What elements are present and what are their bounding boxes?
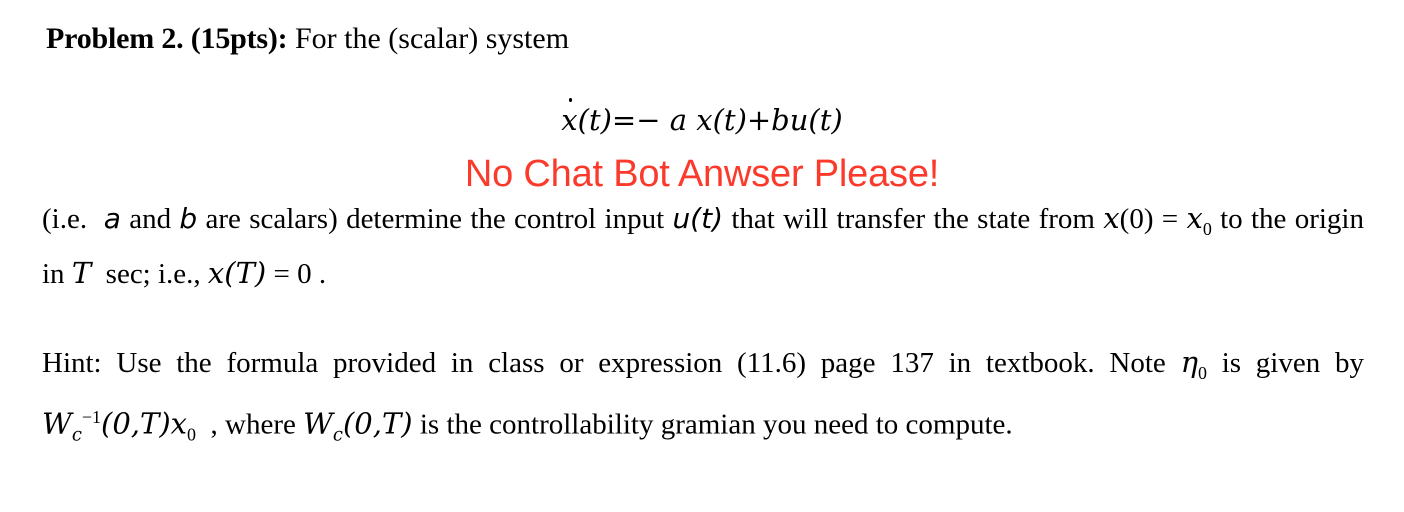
hint-text-segment: Hint: Use the formula provided in class … [42,347,1181,379]
variable-T: T [72,256,91,290]
text-segment: (0) = [1120,203,1187,235]
equation-body: (t)=− a x(t)+bu(t) [578,103,843,137]
text-segment: that will transfer the state from [723,203,1103,235]
problem-heading-rest: For the (scalar) system [287,22,569,55]
variable-x-subscript: 0 [1203,219,1212,239]
text-segment: sec; i.e., [91,258,208,290]
system-equation: x(t)=− a x(t)+bu(t) [0,103,1404,138]
variable-x-initial: x [171,406,187,440]
variable-W-inverse: W [42,406,72,440]
variable-x-initial: x [1186,201,1202,235]
variable-eta: η [1181,345,1198,379]
variable-x-of-T: x(T) [208,256,266,290]
variable-W-gramian: W [303,406,333,440]
variable-W-subscript-c: c [333,424,343,445]
problem-heading: Problem 2. (15pts): For the (scalar) sys… [46,21,569,57]
hint-text-segment: , where [196,408,303,440]
variable-W-subscript-c: c [72,424,82,445]
variable-W-superscript-minus-one: −1 [82,407,101,427]
paragraph-scalars: (i.e. a and b are scalars) determine the… [42,196,1364,296]
problem-label: Problem 2. (15pts): [46,22,287,55]
text-segment: are scalars) determine the control input [197,203,672,235]
hint-text-segment: is the controllability gramian you need … [413,408,1013,440]
document-page: Problem 2. (15pts): For the (scalar) sys… [0,0,1404,512]
x-dot-symbol: x [561,103,577,137]
hint-text-segment: is given by [1207,347,1364,379]
no-chatbot-annotation: No Chat Bot Anwser Please! [0,152,1404,196]
gramian-args: (0,T) [343,406,413,440]
paragraph-hint: Hint: Use the formula provided in class … [42,340,1364,457]
text-segment: = 0 . [266,258,326,290]
text-segment: (i.e. [42,203,104,235]
variable-a: a [104,202,121,235]
gramian-args: (0,T) [101,406,171,440]
variable-x: x [1103,201,1119,235]
variable-eta-subscript: 0 [1198,363,1207,383]
variable-b: b [179,202,197,235]
variable-x-subscript: 0 [187,424,196,444]
text-segment: and [121,203,180,235]
variable-u-of-t: u(t) [672,202,723,235]
